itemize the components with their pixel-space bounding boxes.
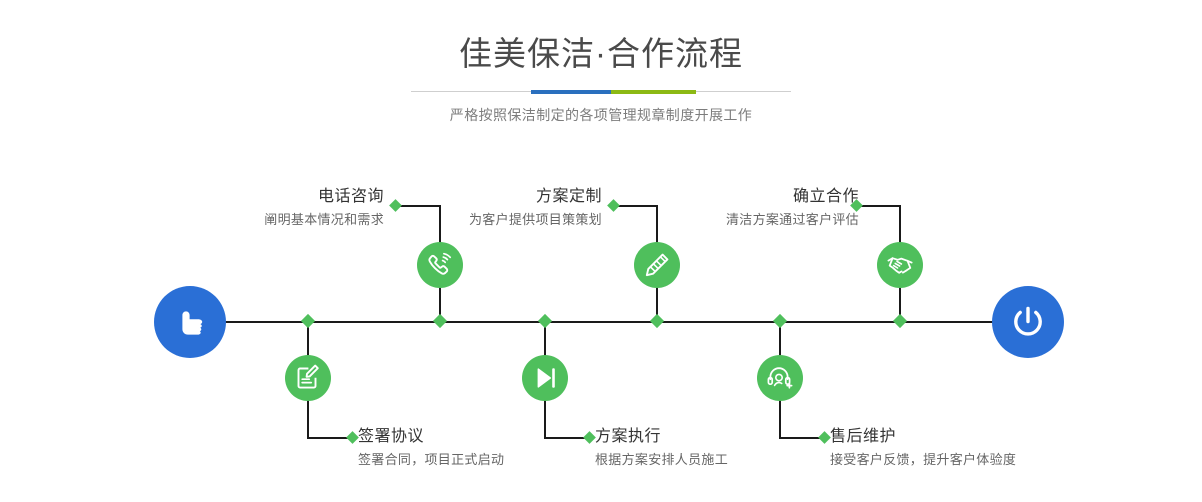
step-1-title: 电话咨询 bbox=[264, 186, 384, 208]
step-5-line-diamond bbox=[893, 314, 907, 328]
step-1-line-diamond bbox=[433, 314, 447, 328]
step-6-title: 售后维护 bbox=[830, 426, 1016, 448]
step-2-icon-badge[interactable] bbox=[285, 355, 331, 401]
handshake-icon bbox=[886, 251, 914, 279]
step-2-label: 签署协议 签署合同，项目正式启动 bbox=[358, 426, 504, 470]
step-2-line-diamond bbox=[301, 314, 315, 328]
pencil-design-icon bbox=[643, 251, 671, 279]
step-4-line-diamond bbox=[538, 314, 552, 328]
step-1-label: 电话咨询 阐明基本情况和需求 bbox=[264, 186, 384, 230]
flow-diagram-page: 佳美保洁·合作流程 严格按照保洁制定的各项管理规章制度开展工作 bbox=[0, 0, 1202, 502]
step-2-title: 签署协议 bbox=[358, 426, 504, 448]
step-2-label-diamond bbox=[346, 431, 359, 444]
step-3-label: 方案定制 为客户提供项目策策划 bbox=[469, 186, 602, 230]
step-6-line-diamond bbox=[773, 314, 787, 328]
step-1-description: 阐明基本情况和需求 bbox=[264, 210, 384, 230]
timeline-end-endpoint bbox=[992, 286, 1064, 358]
step-5-title: 确立合作 bbox=[726, 186, 859, 208]
step-1-icon-badge[interactable] bbox=[417, 242, 463, 288]
step-4-icon-badge[interactable] bbox=[522, 355, 568, 401]
step-6-label: 售后维护 接受客户反馈，提升客户体验度 bbox=[830, 426, 1016, 470]
step-1-label-diamond bbox=[389, 199, 402, 212]
step-3-label-diamond bbox=[607, 199, 620, 212]
phone-call-icon bbox=[426, 251, 454, 279]
timeline-start-endpoint bbox=[154, 286, 226, 358]
step-3-icon-badge[interactable] bbox=[634, 242, 680, 288]
power-icon bbox=[1007, 301, 1049, 343]
customer-support-icon bbox=[766, 364, 794, 392]
step-4-label-diamond bbox=[583, 431, 596, 444]
step-3-title: 方案定制 bbox=[469, 186, 602, 208]
step-4-title: 方案执行 bbox=[595, 426, 728, 448]
step-5-description: 清洁方案通过客户评估 bbox=[726, 210, 859, 230]
step-5-icon-badge[interactable] bbox=[877, 242, 923, 288]
step-5-label: 确立合作 清洁方案通过客户评估 bbox=[726, 186, 859, 230]
play-execute-icon bbox=[531, 364, 559, 392]
step-3-line-diamond bbox=[650, 314, 664, 328]
step-4-description: 根据方案安排人员施工 bbox=[595, 450, 728, 470]
pointing-hand-icon bbox=[170, 302, 210, 342]
document-edit-icon bbox=[294, 364, 322, 392]
process-timeline: 电话咨询 阐明基本情况和需求 签署协议 签署合同，项目正式启动 bbox=[0, 0, 1202, 502]
step-4-label: 方案执行 根据方案安排人员施工 bbox=[595, 426, 728, 470]
step-3-description: 为客户提供项目策策划 bbox=[469, 210, 602, 230]
step-6-description: 接受客户反馈，提升客户体验度 bbox=[830, 450, 1016, 470]
step-6-icon-badge[interactable] bbox=[757, 355, 803, 401]
step-2-description: 签署合同，项目正式启动 bbox=[358, 450, 504, 470]
step-6-label-diamond bbox=[818, 431, 831, 444]
